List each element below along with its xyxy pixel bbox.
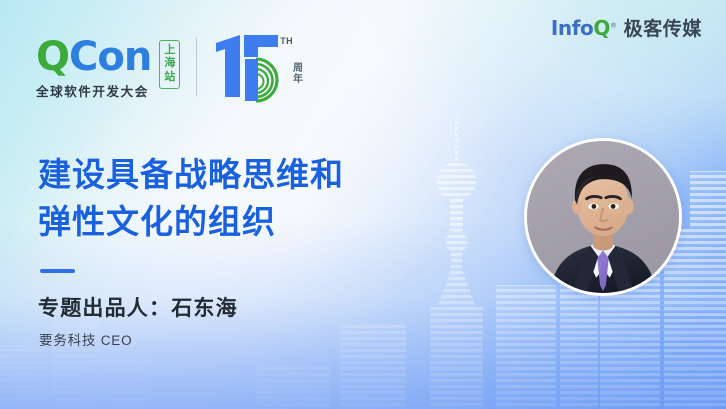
anniv-char-1: 周 [293,63,303,74]
infoq-letter-q: Q [593,16,610,40]
anniv-char-2: 年 [293,74,303,85]
infoq-wordmark: InfoQ® [551,16,617,40]
qcon-wordmark: QCon 全球软件开发大会 [36,38,151,100]
speaker-portrait-illustration [527,141,679,293]
qcon-letters-con: Con [69,34,151,80]
qcon-letter-q: Q [36,34,69,80]
anniversary-ordinal: TH [280,36,293,46]
infoq-text-info: Info [551,16,594,40]
qcon-subtitle: 全球软件开发大会 [36,81,151,100]
title-line-1: 建设具备战略思维和 [38,152,468,199]
infoq-logo[interactable]: InfoQ® 极客传媒 [551,14,702,41]
registered-trademark-icon: ® [610,21,617,29]
qcon-logo: QCon 全球软件开发大会 上 海 站 [36,38,180,100]
qcon-city-badge: 上 海 站 [159,40,180,89]
infoq-media-name: 极客传媒 [624,14,702,41]
anniversary-label: 周 年 [292,63,304,85]
city-char-2: 海 [164,57,175,70]
city-char-3: 站 [164,71,175,84]
speaker-name: 专题出品人：石东海 [38,292,238,322]
speaker-avatar [524,138,682,296]
logo-divider [196,38,197,96]
speaker-role: 要务科技 CEO [39,329,132,349]
qcon-word: QCon [36,38,151,77]
session-title: 建设具备战略思维和 弹性文化的组织 [38,152,468,246]
city-char-1: 上 [164,44,175,57]
accent-rule [40,269,75,273]
anniversary-logo: TH 周 年 [212,33,304,105]
title-line-2: 弹性文化的组织 [38,199,468,246]
qcon-speaker-poster: QCon 全球软件开发大会 上 海 站 TH 周 年 [0,0,726,409]
